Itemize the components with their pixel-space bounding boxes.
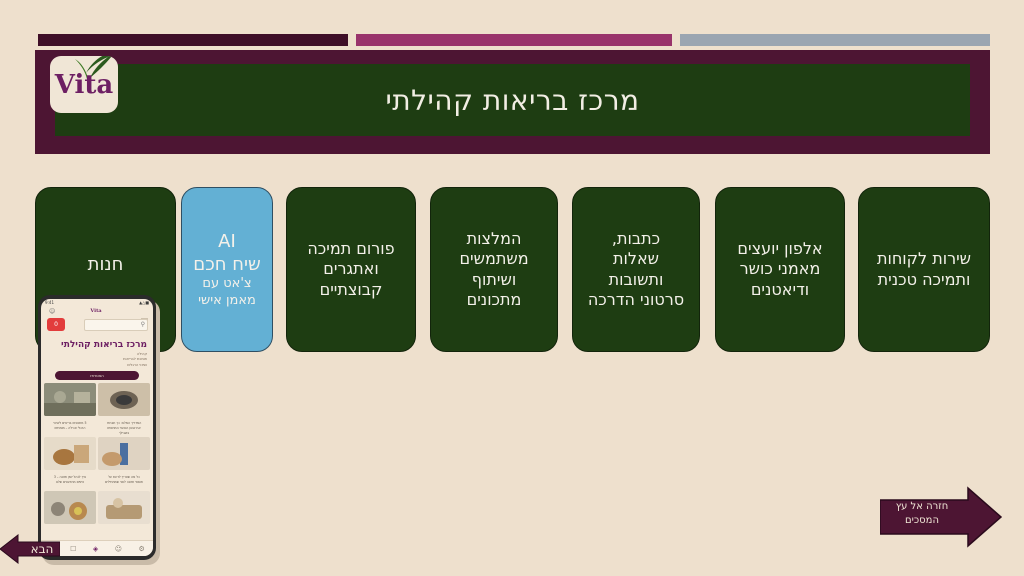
card-directory-label: אלפון יועצים מאמני כושר ודיאטנים	[737, 239, 822, 300]
phone-screen: 9:41 ▲△■ ☺ Vita 0 ⚲ מרכז בריאות קהילתי ק…	[41, 299, 153, 556]
header-frame: מרכז בריאות קהילתי	[35, 50, 990, 154]
list-item[interactable]: כל מה שצריך לדעת עלתוספי תזונה לפני שמתח…	[98, 437, 150, 489]
product-tiles: 5 מתכונים בריאים לשינויהרגלי אכילה – מומ…	[41, 380, 153, 543]
app-cta-button[interactable]: הצטרפו	[55, 371, 139, 380]
calendar-icon[interactable]: ☐	[70, 545, 76, 553]
app-title: מרכז בריאות קהילתי	[41, 340, 153, 350]
app-logo: Vita	[88, 308, 104, 317]
list-item[interactable]: המדריך המלא: כך תבחרואת שעון הכושר המתאי…	[98, 383, 150, 435]
tile-image	[98, 437, 150, 470]
back-arrow-label: חזרה אל עץהמסכים	[890, 500, 954, 527]
search-input[interactable]: ⚲	[84, 319, 148, 331]
status-icons: ▲△■	[139, 300, 149, 305]
page-title: מרכז בריאות קהילתי	[385, 84, 639, 117]
tile-caption: איך לנהל יומן תזונה – 3טיפים מהיועצים של…	[44, 474, 96, 489]
card-customer-service-label: שירות לקוחות ותמיכה טכנית	[877, 249, 971, 290]
tile-image	[44, 383, 96, 416]
top-decorative-bars	[38, 34, 990, 46]
next-arrow-label: הבא	[24, 541, 60, 557]
search-icon: ⚲	[141, 321, 145, 328]
tile-image	[98, 491, 150, 524]
list-item[interactable]: 5 מתכונים בריאים לשינויהרגלי אכילה – מומ…	[44, 383, 96, 435]
card-articles-faq-label: כתבות, שאלות ותשובות סרטוני הדרכה	[588, 229, 684, 311]
list-item[interactable]	[98, 491, 150, 543]
tile-caption: 5 מתכונים בריאים לשינויהרגלי אכילה – מומ…	[44, 420, 96, 435]
card-recommendations-label: המלצות משתמשים ושיתוף מתכונים	[459, 229, 528, 311]
logo-text: Vita	[50, 72, 118, 98]
phone-status-bar: 9:41 ▲△■	[41, 299, 153, 306]
store-icon[interactable]: ◈	[93, 545, 98, 553]
status-time: 9:41	[45, 300, 54, 305]
user-icon[interactable]: ☺	[49, 308, 55, 315]
tile-caption: המדריך המלא: כך תבחרואת שעון הכושר המתאי…	[98, 420, 150, 435]
bar-dark-purple	[38, 34, 348, 46]
header-panel: מרכז בריאות קהילתי	[55, 64, 970, 136]
tile-caption: כל מה שצריך לדעת עלתוספי תזונה לפני שמתח…	[98, 474, 150, 489]
card-customer-service[interactable]: שירות לקוחות ותמיכה טכנית	[858, 187, 990, 352]
settings-icon[interactable]: ⚙	[138, 545, 144, 553]
card-recommendations[interactable]: המלצות משתמשים ושיתוף מתכונים	[430, 187, 558, 352]
app-subtitle: קהילהתומכת לבריאותושינוי הרגלים	[41, 350, 153, 368]
tile-image	[44, 491, 96, 524]
card-ai-chat[interactable]: AI שיח חכם צ'אט עם מאמן אישי	[181, 187, 273, 352]
tile-image	[98, 383, 150, 416]
bar-gray-blue	[680, 34, 990, 46]
bar-magenta	[356, 34, 672, 46]
vita-logo: Vita	[50, 56, 118, 113]
user-icon[interactable]: ☺	[115, 545, 122, 553]
card-store-label: חנות	[88, 253, 124, 276]
phone-mockup: 9:41 ▲△■ ☺ Vita 0 ⚲ מרכז בריאות קהילתי ק…	[38, 295, 156, 560]
card-ai-chat-label: AI שיח חכם צ'אט עם מאמן אישי	[193, 230, 260, 309]
card-directory[interactable]: אלפון יועצים מאמני כושר ודיאטנים	[715, 187, 845, 352]
card-support-forum-label: פורום תמיכה ואתגרים קבוצתיים	[307, 239, 394, 300]
cart-badge-count: 0	[47, 318, 65, 331]
list-item[interactable]: איך לנהל יומן תזונה – 3טיפים מהיועצים של…	[44, 437, 96, 489]
card-support-forum[interactable]: פורום תמיכה ואתגרים קבוצתיים	[286, 187, 416, 352]
app-header: ☺ Vita 0 ⚲	[41, 306, 153, 340]
screen-cards-row: חנות AI שיח חכם צ'אט עם מאמן אישי פורום …	[35, 187, 990, 352]
app-logo-text: Vita	[88, 308, 104, 314]
cart-badge[interactable]: 0	[47, 318, 65, 331]
tile-image	[44, 437, 96, 470]
card-articles-faq[interactable]: כתבות, שאלות ותשובות סרטוני הדרכה	[572, 187, 700, 352]
